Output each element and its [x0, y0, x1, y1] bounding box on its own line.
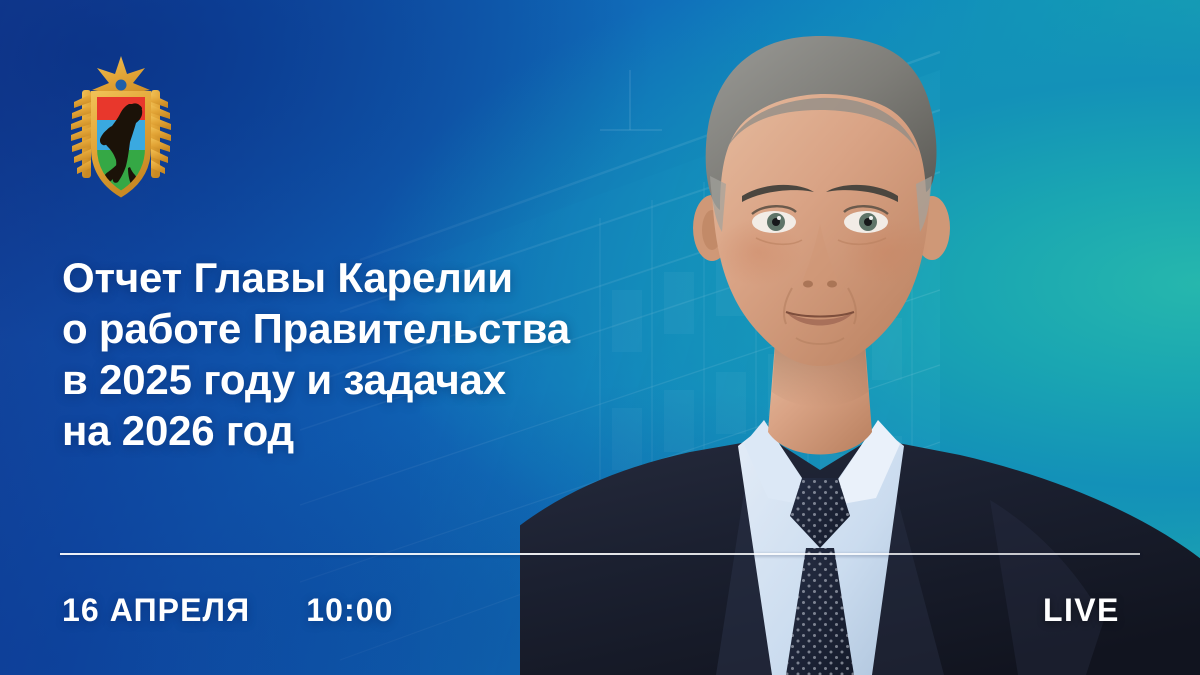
page-title: Отчет Главы Карелии о работе Правительст… — [62, 252, 662, 456]
karelia-coat-of-arms-icon — [58, 52, 184, 220]
event-time: 10:00 — [306, 592, 393, 629]
fir-branch-left — [71, 90, 91, 178]
status-badge: LIVE — [1043, 592, 1120, 629]
divider — [60, 553, 1140, 555]
event-schedule: 16 АПРЕЛЯ 10:00 — [62, 592, 394, 629]
fir-branch-right — [151, 90, 171, 178]
event-date: 16 АПРЕЛЯ — [62, 592, 250, 629]
shield — [88, 94, 154, 200]
event-announcement-banner: Отчет Главы Карелии о работе Правительст… — [0, 0, 1200, 675]
